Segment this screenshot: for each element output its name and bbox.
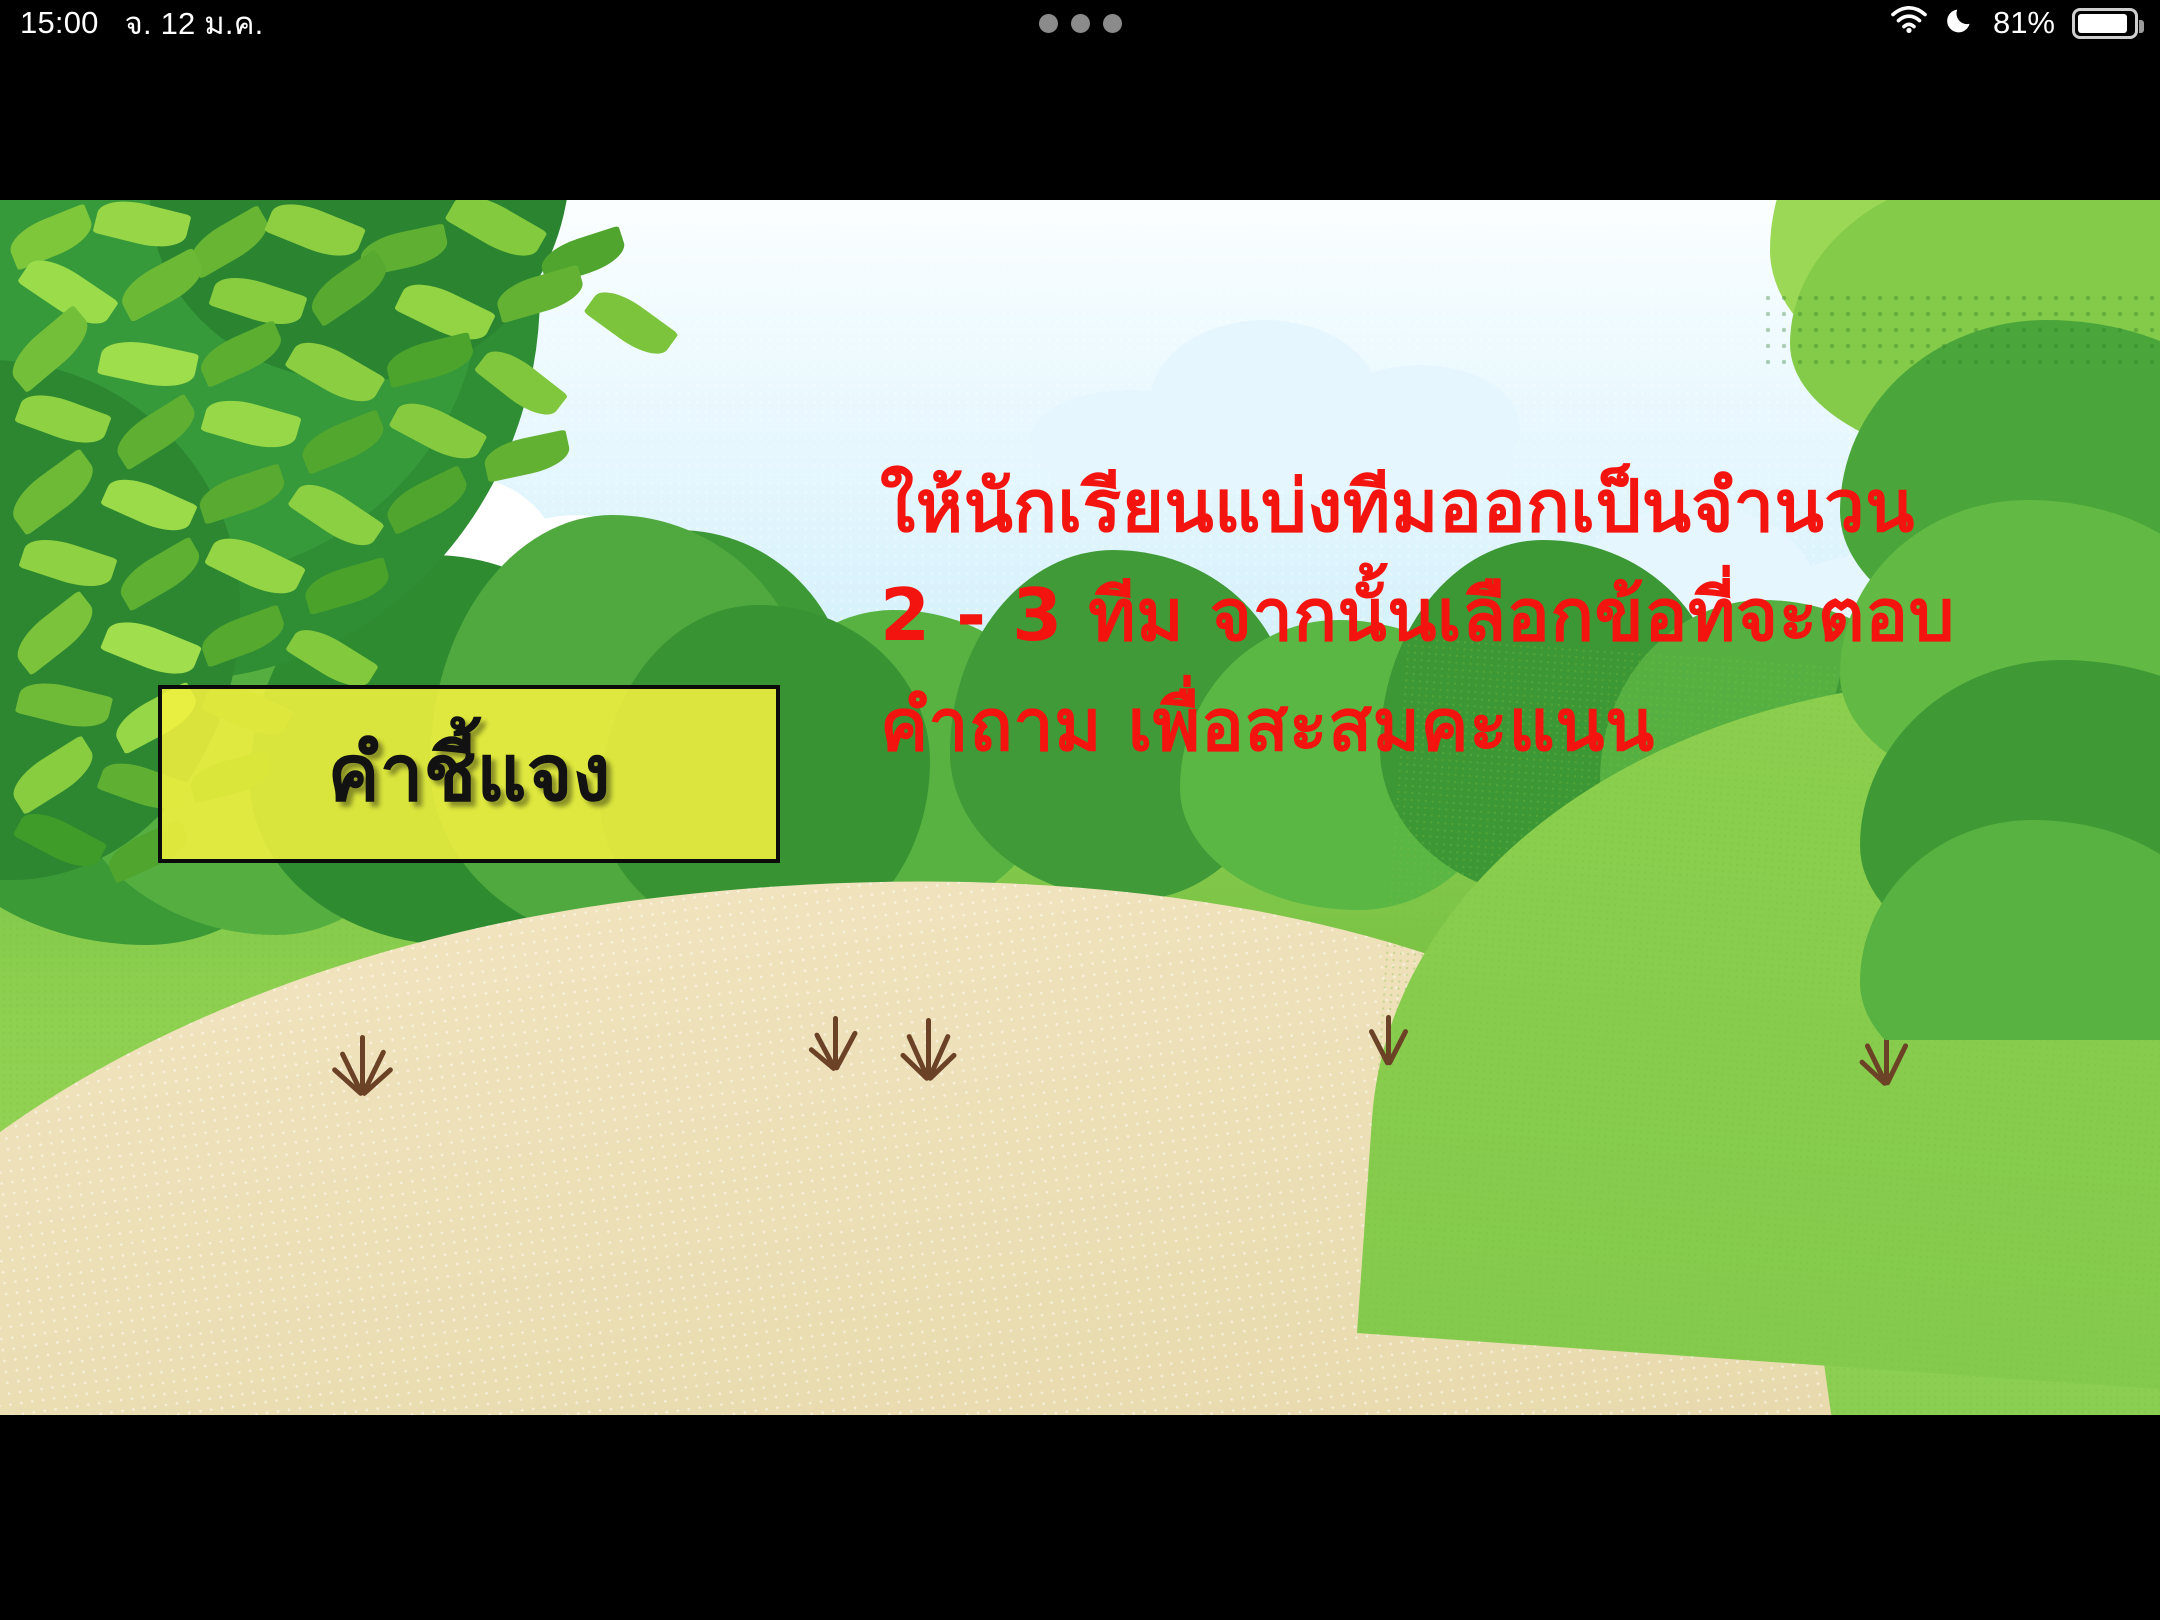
leaf-shape (583, 281, 678, 365)
status-bar-right: 81% (1889, 0, 2138, 46)
dot-icon (1039, 14, 1058, 33)
slide-content: คำชี้แจง ให้นักเรียนแบ่งทีมออกเป็นจำนวน … (0, 200, 2160, 1415)
foliage-texture (1760, 290, 2160, 370)
instruction-line-2: 2 - 3 ทีม จากนั้นเลือกข้อที่จะตอบ (880, 561, 2090, 670)
battery-percent-label: 81% (1993, 5, 2055, 41)
callout-box[interactable]: คำชี้แจง (158, 685, 780, 863)
dot-icon (1103, 14, 1122, 33)
callout-label: คำชี้แจง (328, 735, 611, 813)
instruction-text: ให้นักเรียนแบ่งทีมออกเป็นจำนวน 2 - 3 ทีม… (880, 452, 2090, 780)
wifi-icon (1889, 4, 1929, 42)
bare-shrub (1360, 1007, 1412, 1065)
battery-fill (2078, 14, 2127, 33)
screen-recording-dots (0, 0, 2160, 46)
crescent-moon-icon (1946, 4, 1976, 42)
dot-icon (1071, 14, 1090, 33)
battery-icon (2072, 8, 2138, 39)
tablet-screen: 15:00 จ. 12 ม.ค. 81% (0, 0, 2160, 1620)
instruction-line-3: คำถาม เพื่อสะสมคะแนน (880, 671, 2090, 780)
status-bar: 15:00 จ. 12 ม.ค. 81% (0, 0, 2160, 46)
bare-shrub (805, 1008, 860, 1070)
instruction-line-1: ให้นักเรียนแบ่งทีมออกเป็นจำนวน (880, 452, 2090, 561)
bare-shrub (895, 1010, 957, 1080)
bare-shrub (330, 1023, 390, 1095)
